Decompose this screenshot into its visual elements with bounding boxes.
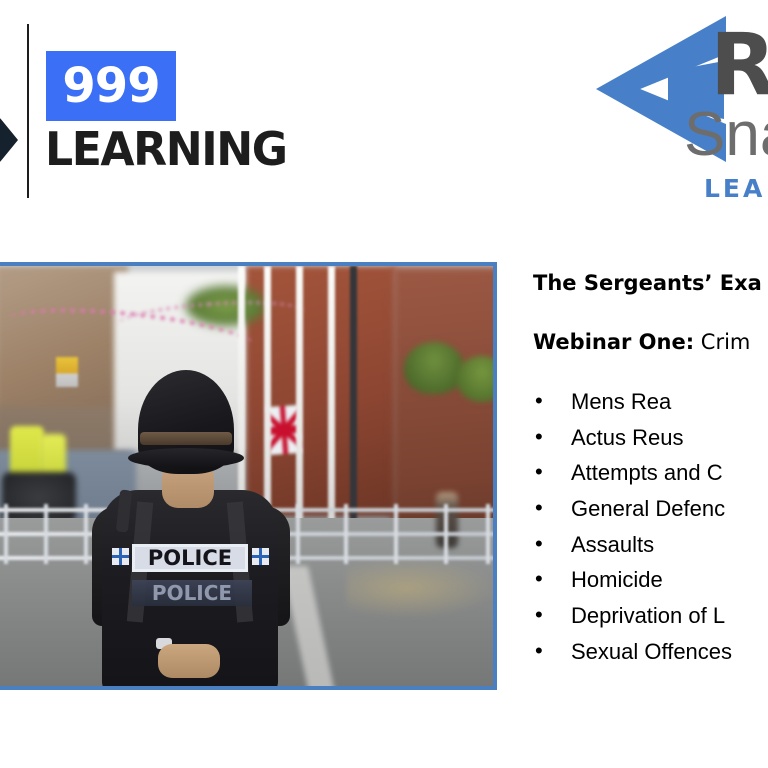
officer-helmet-band xyxy=(140,432,232,445)
officer-police-patch-bottom: POLICE xyxy=(132,580,252,606)
officer-police-patch-top-label: POLICE xyxy=(148,548,232,569)
slide-subtitle-bold: Webinar One: xyxy=(533,330,694,354)
officer-helmet-brim xyxy=(128,448,244,468)
barrier-leg xyxy=(344,504,348,564)
photo-police-officer: POLICE POLICE xyxy=(92,370,292,686)
list-item: Attempts and C xyxy=(533,455,768,491)
logo-999-learning[interactable]: 999 LEARNING xyxy=(0,10,340,200)
police-street-photo: POLICE POLICE xyxy=(0,266,493,686)
slide-subtitle-rest: Crim xyxy=(694,330,750,354)
barrier-leg xyxy=(4,504,8,564)
logo-tagline-learning: LEA xyxy=(704,176,765,201)
play-chevron-icon xyxy=(0,118,18,162)
police-photo-frame: POLICE POLICE xyxy=(0,262,497,690)
list-item: Assaults xyxy=(533,527,768,563)
list-item: Homicide xyxy=(533,562,768,598)
barrier-leg xyxy=(44,504,48,564)
barrier-leg xyxy=(486,504,490,564)
logo-letter-r: R xyxy=(710,22,768,108)
officer-police-patch-top: POLICE xyxy=(132,544,248,572)
list-item: Sexual Offences xyxy=(533,634,768,670)
officer-badge-right-icon xyxy=(252,548,269,565)
badge-999-label: 999 xyxy=(62,62,159,110)
list-item: Mens Rea xyxy=(533,384,768,420)
officer-clasped-hands xyxy=(158,644,220,678)
badge-999: 999 xyxy=(46,51,176,121)
officer-police-patch-bottom-label: POLICE xyxy=(152,583,232,603)
officer-badge-left-icon xyxy=(112,548,129,565)
logo-response-snap-learning[interactable]: R Sna LEA xyxy=(596,8,768,208)
slide-title: The Sergeants’ Exa xyxy=(533,272,768,295)
photo-hanging-basket-one xyxy=(404,342,464,394)
list-item: General Defenc xyxy=(533,491,768,527)
barrier-leg xyxy=(84,504,88,564)
barrier-leg xyxy=(444,504,448,564)
list-item: Actus Reus xyxy=(533,420,768,456)
logo-divider xyxy=(27,24,29,198)
barrier-leg xyxy=(296,504,300,564)
list-item: Deprivation of L xyxy=(533,598,768,634)
barrier-leg xyxy=(394,504,398,564)
logo-word-snap: Sna xyxy=(684,104,768,166)
topic-bullet-list: Mens Rea Actus Reus Attempts and C Gener… xyxy=(533,384,768,669)
slide-header: 999 LEARNING R Sna LEA xyxy=(0,0,768,240)
photo-yellow-sign xyxy=(56,357,78,387)
slide-subtitle: Webinar One: Crim xyxy=(533,331,768,354)
slide-text-column: The Sergeants’ Exa Webinar One: Crim Men… xyxy=(533,272,768,669)
logo-wordmark-learning: LEARNING xyxy=(45,126,287,172)
